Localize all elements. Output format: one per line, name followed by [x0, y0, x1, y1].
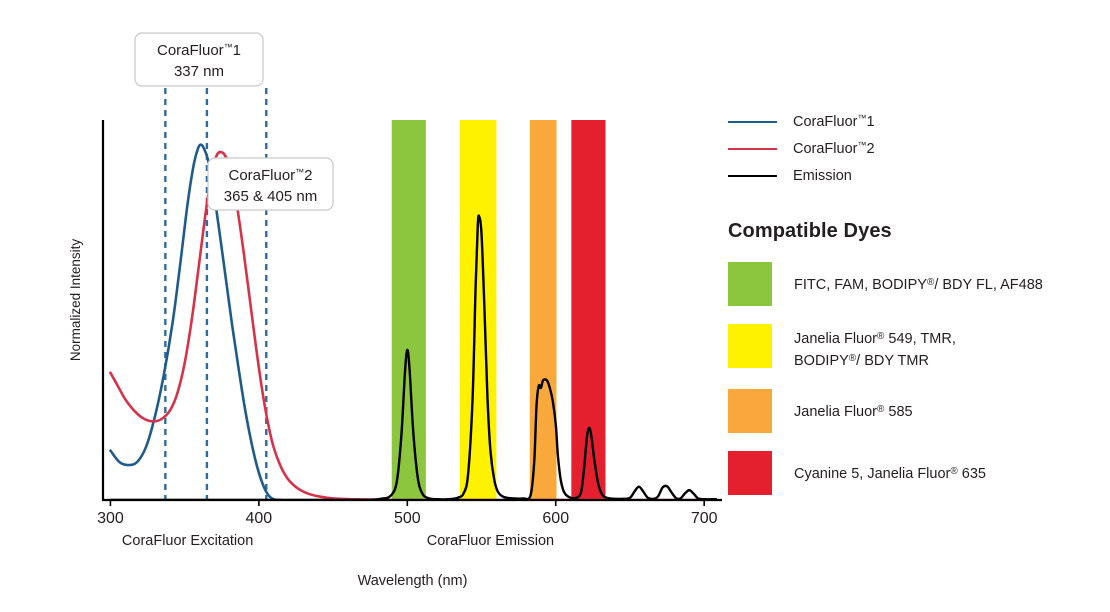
dye-green-swatch	[728, 262, 772, 306]
legend-panel: CoraFluor™1CoraFluor™2Emission Compatibl…	[728, 108, 1098, 513]
x-tick-label-700: 700	[691, 510, 718, 527]
region-label-0: CoraFluor Excitation	[122, 533, 253, 549]
registered-icon: ®	[849, 353, 856, 364]
dye-red-row[interactable]: Cyanine 5, Janelia Fluor® 635	[728, 451, 1098, 495]
x-tick-label-600: 600	[542, 510, 569, 527]
dye-yellow-swatch	[728, 324, 772, 368]
legend-corafluor-2-label: CoraFluor™2	[793, 140, 875, 157]
green-band	[392, 120, 426, 500]
dye-yellow-label: Janelia Fluor® 549, TMR,BODIPY®/ BDY TMR	[794, 324, 956, 371]
registered-icon: ®	[927, 277, 934, 288]
legend-corafluor-1-label: CoraFluor™1	[793, 113, 875, 130]
legend-emission-label: Emission	[793, 168, 852, 184]
line-legend: CoraFluor™1CoraFluor™2Emission	[728, 108, 1098, 189]
dye-list: FITC, FAM, BODIPY®/ BDY FL, AF488Janelia…	[728, 262, 1098, 495]
callout-corafluor-1: CoraFluor™1337 nm	[135, 33, 263, 86]
dye-red-label: Cyanine 5, Janelia Fluor® 635	[794, 451, 986, 484]
legend-corafluor-2-swatch	[728, 148, 777, 150]
x-tick-label-500: 500	[394, 510, 421, 527]
callout-corafluor-2-line2: 365 & 405 nm	[224, 188, 317, 205]
legend-corafluor-2[interactable]: CoraFluor™2	[728, 135, 1098, 162]
dye-green-label: FITC, FAM, BODIPY®/ BDY FL, AF488	[794, 262, 1043, 295]
dye-yellow-row[interactable]: Janelia Fluor® 549, TMR,BODIPY®/ BDY TMR	[728, 324, 1098, 371]
x-tick-label-400: 400	[246, 510, 273, 527]
dye-orange-label: Janelia Fluor® 585	[794, 389, 913, 422]
x-axis-title: Wavelength (nm)	[358, 573, 468, 589]
trademark-icon: ™	[857, 113, 866, 123]
bands-layer	[392, 120, 606, 500]
legend-corafluor-1-swatch	[728, 121, 777, 123]
y-axis-title: Normalized Intensity	[68, 239, 83, 362]
red-band	[571, 120, 605, 500]
legend-emission[interactable]: Emission	[728, 162, 1098, 189]
compatible-dyes-heading: Compatible Dyes	[728, 220, 1098, 243]
dye-orange-swatch	[728, 389, 772, 433]
dye-orange-row[interactable]: Janelia Fluor® 585	[728, 389, 1098, 433]
legend-corafluor-1[interactable]: CoraFluor™1	[728, 108, 1098, 135]
figure-root: 300400500600700CoraFluor ExcitationCoraF…	[0, 0, 1110, 612]
registered-icon: ®	[877, 331, 884, 342]
dye-green-row[interactable]: FITC, FAM, BODIPY®/ BDY FL, AF488	[728, 262, 1098, 306]
x-tick-label-300: 300	[97, 510, 124, 527]
trademark-icon: ™	[857, 140, 866, 150]
legend-emission-swatch	[728, 175, 777, 177]
registered-icon: ®	[877, 404, 884, 415]
dye-red-swatch	[728, 451, 772, 495]
orange-band	[530, 120, 557, 500]
region-label-1: CoraFluor Emission	[427, 533, 554, 549]
callout-corafluor-1-line2: 337 nm	[174, 63, 224, 80]
callout-corafluor-2: CoraFluor™2365 & 405 nm	[208, 158, 333, 210]
registered-icon: ®	[950, 466, 957, 477]
